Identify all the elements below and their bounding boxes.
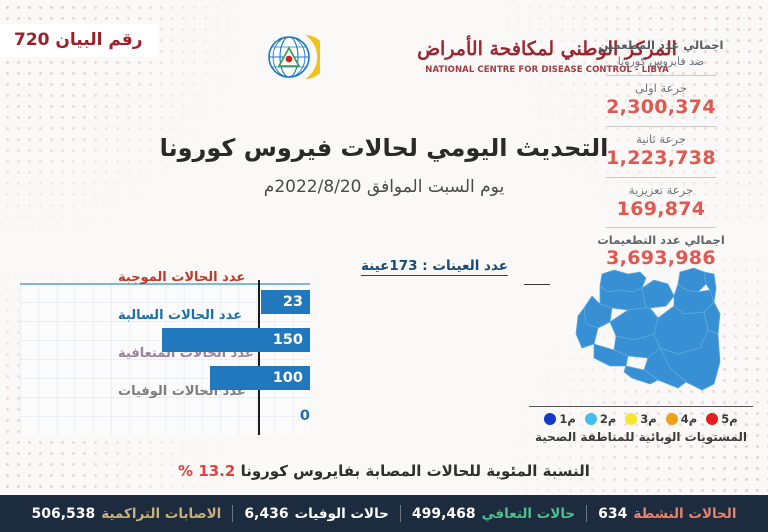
level-3-dot xyxy=(625,413,637,425)
chart-row: عدد الحالات الموجبة xyxy=(20,258,258,296)
legend-item-level-4: م4 xyxy=(666,412,697,426)
footer-item-deaths: حالات الوفيات 6,436 xyxy=(233,506,400,522)
footer-value-recovered: 499,468 xyxy=(412,506,476,522)
footer-label-deaths: حالات الوفيات xyxy=(295,506,389,522)
footer-item-recovered: حالات التعافي 499,468 xyxy=(401,506,586,522)
dose-3-value: 169,874 xyxy=(568,198,754,222)
map-divider xyxy=(524,284,550,285)
legend-item-level-3: م3 xyxy=(625,412,656,426)
category-label-recovered: عدد الحالات المتعافية xyxy=(108,346,258,361)
legend-item-level-1: م1 xyxy=(544,412,575,426)
footer-separator xyxy=(400,505,401,522)
legend-label-level-1: م1 xyxy=(559,412,575,426)
positivity-rate-label: النسبة المئوية للحالات المصابة بفايروس ك… xyxy=(241,462,590,480)
footer-label-active: الحالات النشطة xyxy=(633,506,736,522)
positivity-rate-line: النسبة المئوية للحالات المصابة بفايروس ك… xyxy=(0,462,768,480)
chart-category-labels: عدد الحالات الموجبة عدد الحالات السالبة … xyxy=(20,258,258,410)
summary-footer-bar: الحالات النشطة 634 حالات التعافي 499,468… xyxy=(0,495,768,532)
samples-count-heading: عدد العينات : 173عينة xyxy=(361,258,508,276)
legend-caption: المستويات الوبائية للمناطقة الصحية xyxy=(528,430,754,444)
category-label-deaths: عدد الحالات الوفيات xyxy=(108,384,258,399)
level-1-dot xyxy=(544,413,556,425)
footer-label-cumulative: الاصابات التراكمية xyxy=(101,506,221,522)
positivity-rate-value: 13.2 % xyxy=(178,462,235,480)
vaccination-title: اجمالي عدد المطعمين xyxy=(568,38,754,54)
infographic-page: رقم البيان 720 المركز الوطني لمكافحة الأ… xyxy=(0,0,768,532)
vaccination-total-label: اجمالي عدد التطعيمات xyxy=(568,233,754,247)
category-label-positive: عدد الحالات الموجبة xyxy=(108,270,258,285)
footer-value-cumulative: 506,538 xyxy=(32,506,96,522)
legend-label-level-2: م2 xyxy=(600,412,616,426)
chart-row: عدد الحالات المتعافية xyxy=(20,334,258,372)
legend-item-level-5: م5 xyxy=(706,412,737,426)
footer-label-recovered: حالات التعافي xyxy=(482,506,576,522)
legend-divider xyxy=(529,406,753,407)
footer-value-active: 634 xyxy=(598,506,627,522)
dose-1-label: جرعة اولى xyxy=(568,81,754,96)
daily-cases-bar-chart: عدد العينات : 173عينة عدد الحالات الموجب… xyxy=(20,258,550,438)
divider xyxy=(606,75,716,76)
footer-item-active: الحالات النشطة 634 xyxy=(587,506,747,522)
divider xyxy=(606,126,716,127)
chart-row: عدد الحالات الوفيات xyxy=(20,372,258,410)
libya-epidemic-map xyxy=(528,262,754,404)
map-legend: م5 م4 م3 م2 م1 المستويات الوبائية للمناط… xyxy=(528,406,754,444)
legend-label-level-5: م5 xyxy=(721,412,737,426)
divider xyxy=(606,227,716,228)
page-title: التحديث اليومي لحالات فيروس كورونا xyxy=(0,134,768,162)
footer-item-cumulative: الاصابات التراكمية 506,538 xyxy=(21,506,233,522)
level-5-dot xyxy=(706,413,718,425)
footer-separator xyxy=(586,505,587,522)
category-label-negative: عدد الحالات السالبة xyxy=(108,308,258,323)
footer-separator xyxy=(232,505,233,522)
ncdc-crescent-globe-logo xyxy=(258,26,320,88)
legend-label-level-4: م4 xyxy=(681,412,697,426)
level-2-dot xyxy=(585,413,597,425)
level-4-dot xyxy=(666,413,678,425)
legend-items: م5 م4 م3 م2 م1 xyxy=(528,412,754,426)
dose-1-value: 2,300,374 xyxy=(568,96,754,120)
legend-item-level-2: م2 xyxy=(585,412,616,426)
chart-row: عدد الحالات السالبة xyxy=(20,296,258,334)
page-subtitle-date: يوم السبت الموافق 2022/8/20م xyxy=(0,177,768,197)
footer-value-deaths: 6,436 xyxy=(244,506,288,522)
vaccination-subtitle: ضد فايروس كورونا xyxy=(568,55,754,70)
statement-number-badge: رقم البيان 720 xyxy=(0,24,159,57)
legend-label-level-3: م3 xyxy=(640,412,656,426)
